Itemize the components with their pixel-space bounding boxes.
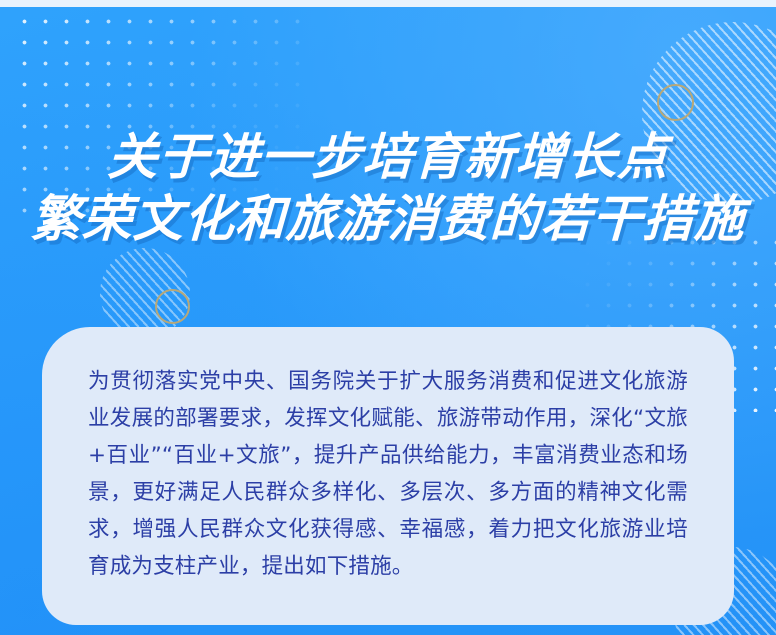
policy-poster: 关于进一步培育新增长点 繁荣文化和旅游消费的若干措施 为贯彻落实党中央、国务院关… [0, 0, 776, 635]
top-edge-strip [0, 0, 776, 7]
summary-card: 为贯彻落实党中央、国务院关于扩大服务消费和促进文化旅游业发展的部署要求，发挥文化… [42, 327, 734, 625]
summary-paragraph: 为贯彻落实党中央、国务院关于扩大服务消费和促进文化旅游业发展的部署要求，发挥文化… [88, 363, 688, 585]
